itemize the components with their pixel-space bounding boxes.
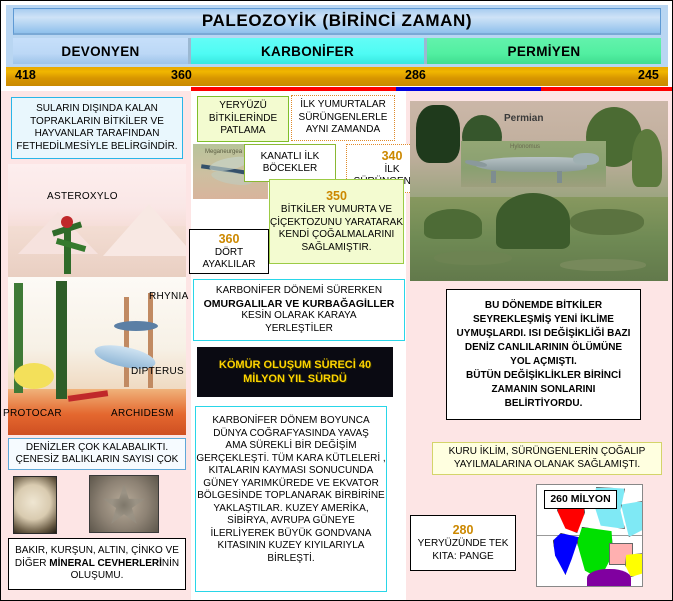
text-line: GÜNEY YARIMKÜREDE VE EKVATOR (196, 478, 386, 491)
text-line: BİTKİLER YUMURTA VE (270, 204, 403, 217)
coal-banner-text: KÖMÜR OLUŞUM SÜRECİ 40 MİLYON YIL SÜRDÜ (197, 358, 393, 386)
image-asteroxylo-landscape (8, 164, 186, 277)
period-band-devonyen[interactable]: DEVONYEN (13, 38, 191, 64)
image-label-lizard-species: Hylonomus (510, 144, 540, 150)
text-line: SULARIN DIŞINDA KALAN (12, 103, 182, 116)
callout-tetrapods: 360 DÖRT AYAKLILAR (189, 229, 269, 274)
callout-seas-crowded: DENİZLER ÇOK KALABALIKTI. ÇENESİZ BALIKL… (8, 438, 186, 470)
text-line: SÜRÜNGENLERLE (292, 112, 394, 125)
text-line: YERYÜZÜNDE TEK (411, 538, 515, 551)
image-label-permian: Permian (504, 113, 543, 124)
text-line: KITALARIN KAYMASI SONUCUNDA (196, 465, 386, 478)
callout-pangea: 280 YERYÜZÜNDE TEK KITA: PANGE (410, 515, 516, 571)
timeline-bar: 418 360 286 245 (6, 67, 668, 86)
image-label-dipterus: DIPTERUS (131, 366, 184, 377)
text-line: AMA SÜREKLİ BİR DEĞİŞİM (196, 440, 386, 453)
text-line: BÜTÜN DEĞİŞİKLİKLER BİRİNCİ (447, 369, 640, 383)
text-line: KENDİ ÇOĞALMALARINI (270, 229, 403, 242)
image-label-protocar: PROTOCAR (3, 408, 62, 419)
header-panel: PALEOZOYİK (BİRİNCİ ZAMAN) DEVONYEN KARB… (6, 5, 668, 67)
image-label-rhynia: RHYNIA (149, 291, 189, 302)
text-line: SAĞLAMIŞTIR. (270, 242, 403, 255)
text-line: AYNI ZAMANDA (292, 124, 394, 137)
page-title: PALEOZOYİK (BİRİNCİ ZAMAN) (13, 8, 661, 35)
text-line: DÜNYA COĞRAFYASINDA YAVAŞ (196, 428, 386, 441)
text-line: OLUŞUMU. (9, 570, 185, 583)
text-line: KARBONİFER DÖNEMİ SÜRERKEN (194, 285, 404, 298)
text-line-bold: OMURGALILAR VE KURBAĞAGİLLER (194, 298, 404, 311)
text-line: TOPRAKLARIN BİTKİLER VE (12, 116, 182, 129)
timeline-mark-286: 286 (405, 68, 426, 82)
text-line: SİBİRYA, AVRUPA GÜNEYE (196, 515, 386, 528)
callout-dry-climate: KURU İKLİM, SÜRÜNGENLERİN ÇOĞALIP YAYILM… (432, 442, 662, 475)
text-part: NİN (162, 558, 179, 569)
text-line: KURU İKLİM, SÜRÜNGENLERİN ÇOĞALIP (433, 446, 661, 459)
timeline-mark-360: 360 (171, 68, 192, 82)
text-line: BÖCEKLER (245, 163, 335, 176)
callout-minerals: BAKIR, KURŞUN, ALTIN, ÇİNKO VE DİĞER MİN… (8, 538, 186, 590)
image-permian-landscape: Hylonomus (410, 101, 668, 281)
text-line: ZAMANIN SONLARINI (447, 383, 640, 397)
image-label-dragonfly-species: Meganeurgea (205, 149, 242, 155)
text-line: YOL AÇMIŞTI. (447, 355, 640, 369)
text-part-bold: MİNERAL CEVHERLERİ (49, 558, 162, 569)
text-line: MİLYON YIL SÜRDÜ (243, 373, 347, 385)
text-line: GERÇEKLEŞTİ. TÜM KARA KÜTLELERİ , (196, 453, 386, 466)
year-label: 350 (270, 189, 403, 204)
timeline-mark-418: 418 (15, 68, 36, 82)
text-line: KANATLI İLK (245, 151, 335, 164)
text-line: BİTKİLERİNDE (198, 113, 288, 126)
callout-permian-climate: BU DÖNEMDE BİTKİLER SEYREKLEŞMİŞ YENİ İK… (446, 289, 641, 420)
period-band-row: DEVONYEN KARBONİFER PERMİYEN (13, 38, 661, 64)
image-starfish-fossil (89, 475, 159, 533)
text-line: BU DÖNEMDE BİTKİLER (447, 299, 640, 313)
text-line: YAYILMALARINA OLANAK SAĞLAMIŞTI. (433, 459, 661, 472)
image-coal-banner: KÖMÜR OLUŞUM SÜRECİ 40 MİLYON YIL SÜRDÜ (197, 347, 393, 397)
image-label-asteroxylo: ASTEROXYLO (47, 191, 118, 202)
text-line: FETHEDİLMESİYLE BELİRGİNDİR. (12, 141, 182, 154)
text-line: KARBONİFER DÖNEM BOYUNCA (196, 415, 386, 428)
image-ammonite-fossil (13, 476, 57, 534)
callout-carboniferous-geography: KARBONİFER DÖNEM BOYUNCA DÜNYA COĞRAFYAS… (195, 406, 387, 592)
text-line: BİRLEŞTİ. (196, 553, 386, 566)
timeline-mark-245: 245 (638, 68, 659, 82)
text-line: BÖLGESİNDE TOPLANARAK BİRBİRİNE (196, 490, 386, 503)
text-line: HAYVANLAR TARAFINDAN (12, 128, 182, 141)
text-line: SEYREKLEŞMİŞ YENİ İKLİME (447, 313, 640, 327)
text-line: YERLEŞTİLER (194, 323, 404, 336)
text-line: AYAKLILAR (190, 259, 268, 272)
text-part: DİĞER (15, 558, 49, 569)
text-line: İLERLİYEREK BÜYÜK GONDVANA (196, 528, 386, 541)
text-line: İLK YUMURTALAR (292, 99, 394, 112)
text-line: KITASININ KUZEY KIYILARIYLA (196, 540, 386, 553)
text-line: DENİZLER ÇOK KALABALIKTI. (9, 442, 185, 455)
text-line: DENİZ CANLILARININ ÖLÜMÜNE (447, 341, 640, 355)
year-label: 360 (190, 232, 268, 247)
text-line: BAKIR, KURŞUN, ALTIN, ÇİNKO VE (9, 545, 185, 558)
map-badge-260-milyon: 260 MİLYON (544, 490, 617, 509)
text-line: KESİN OLARAK KARAYA (194, 310, 404, 323)
callout-devon-intro: SULARIN DIŞINDA KALAN TOPRAKLARIN BİTKİL… (11, 97, 183, 159)
image-label-archidesm: ARCHIDESM (111, 408, 174, 419)
text-line: YERYÜZÜ (198, 100, 288, 113)
callout-seeds-pollen: 350 BİTKİLER YUMURTA VE ÇİÇEKTOZUNU YARA… (269, 179, 404, 264)
text-line: UYMUŞLARDI. ISI DEĞİŞİKLİĞİ BAZI (447, 327, 640, 341)
text-line: YAKLAŞTILAR. KUZEY AMERİKA, (196, 503, 386, 516)
year-label: 280 (411, 523, 515, 538)
text-line: KITA: PANGE (411, 551, 515, 564)
slide-root: PALEOZOYİK (BİRİNCİ ZAMAN) DEVONYEN KARB… (0, 0, 673, 601)
text-line: PATLAMA (198, 125, 288, 138)
callout-first-eggs: İLK YUMURTALAR SÜRÜNGENLERLE AYNI ZAMAND… (291, 95, 395, 141)
text-line-mixed: DİĞER MİNERAL CEVHERLERİNİN (9, 558, 185, 571)
callout-plants-explosion: YERYÜZÜ BİTKİLERİNDE PATLAMA (197, 96, 289, 142)
text-line: KÖMÜR OLUŞUM SÜRECİ 40 (219, 359, 371, 371)
text-line: DÖRT (190, 247, 268, 260)
text-line: BELİRTİYORDU. (447, 397, 640, 411)
text-line: 260 MİLYON (545, 493, 616, 506)
period-band-karbonifer[interactable]: KARBONİFER (191, 38, 427, 64)
text-line: ÇENESİZ BALIKLARIN SAYISI ÇOK (9, 454, 185, 467)
period-band-permiyen[interactable]: PERMİYEN (427, 38, 661, 64)
callout-winged-insects: KANATLI İLK BÖCEKLER (244, 144, 336, 182)
text-line: ÇİÇEKTOZUNU YARATARAK (270, 217, 403, 230)
callout-vertebrates-land: KARBONİFER DÖNEMİ SÜRERKEN OMURGALILAR V… (193, 279, 405, 341)
